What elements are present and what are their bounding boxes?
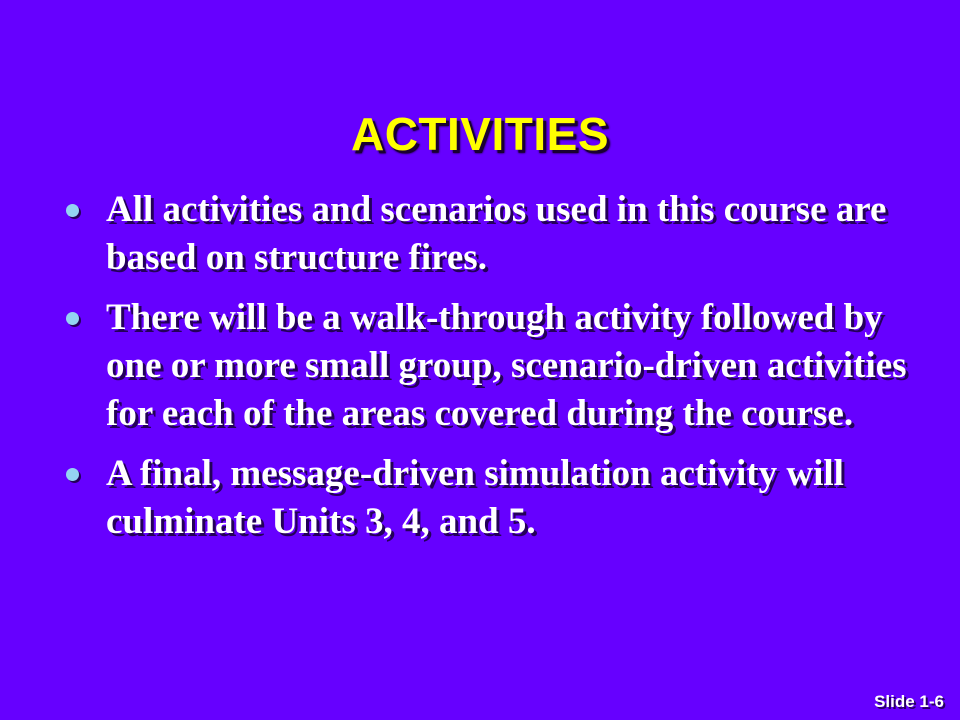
list-item-label: All activities and scenarios used in thi… bbox=[106, 186, 938, 282]
slide-canvas: ACTIVITIES All activities and scenarios … bbox=[0, 0, 960, 720]
disc-bullet-icon bbox=[66, 468, 79, 481]
list-item: A final, message-driven simulation activ… bbox=[58, 450, 938, 546]
disc-bullet-icon bbox=[66, 312, 79, 325]
bullet-list: All activities and scenarios used in thi… bbox=[58, 186, 938, 546]
list-item: All activities and scenarios used in thi… bbox=[58, 186, 938, 282]
slide-number-label: Slide 1-6 bbox=[874, 692, 944, 712]
list-item-label: There will be a walk-through activity fo… bbox=[106, 294, 938, 438]
page-title: ACTIVITIES bbox=[0, 109, 960, 159]
list-item: There will be a walk-through activity fo… bbox=[58, 294, 938, 438]
disc-bullet-icon bbox=[66, 204, 79, 217]
list-item-label: A final, message-driven simulation activ… bbox=[106, 450, 938, 546]
